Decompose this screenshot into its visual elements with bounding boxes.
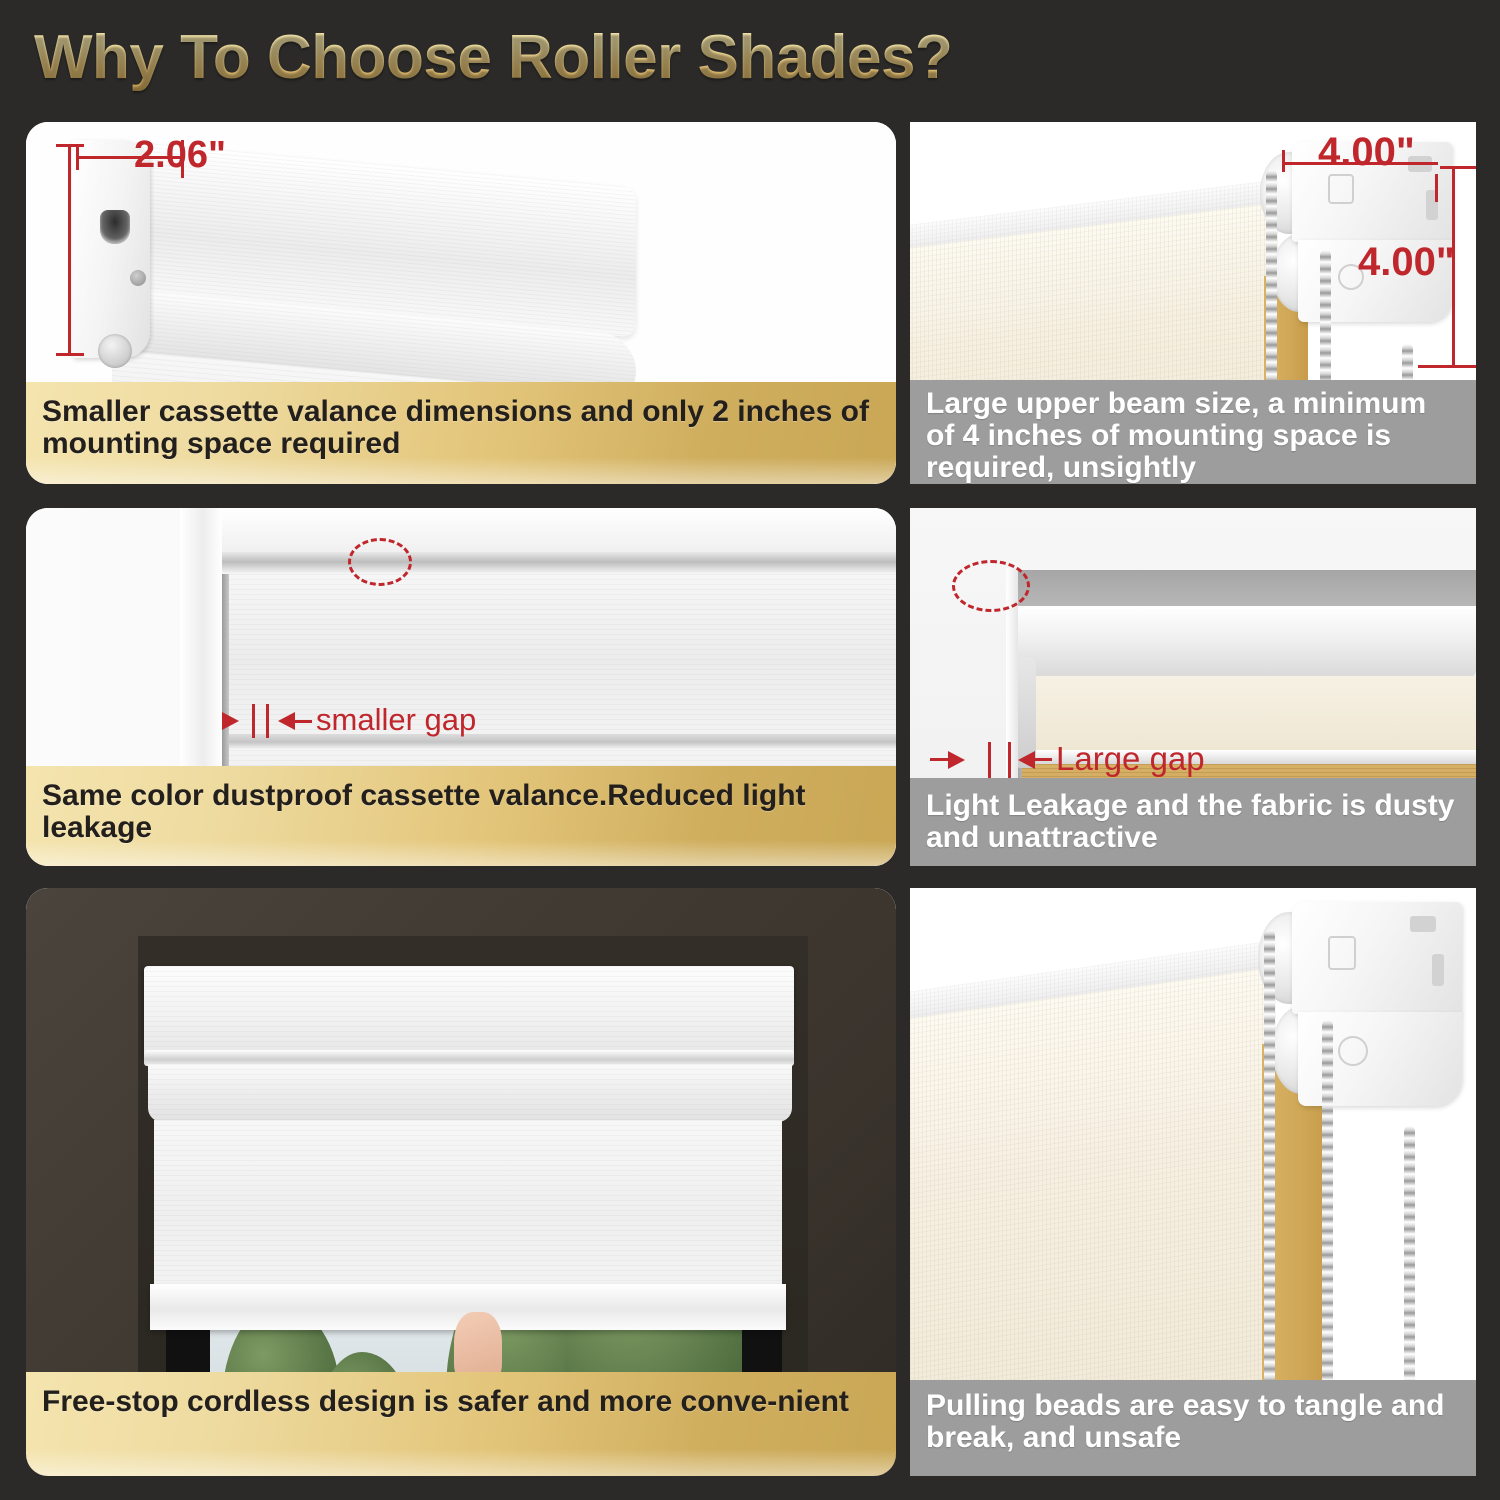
dim-top-tick-left <box>1282 150 1285 172</box>
roller-tube <box>148 1064 792 1122</box>
gap-tick-right <box>266 704 269 738</box>
caption-bottom-left: Free-stop cordless design is safer and m… <box>26 1372 896 1476</box>
window-frame-top <box>180 508 896 552</box>
caption-text: Free-stop cordless design is safer and m… <box>42 1386 849 1418</box>
gap-arrow-left <box>948 751 965 769</box>
highlight-circle <box>348 538 412 586</box>
bracket-notch-2 <box>1432 954 1444 986</box>
page-title: Why To Choose Roller Shades? <box>34 22 952 93</box>
panel-middle-left: smaller gap Same color dustproof cassett… <box>26 508 896 866</box>
caption-top-right: Large upper beam size, a minimum of 4 in… <box>910 380 1476 484</box>
dim-side-label: 4.00" <box>1358 240 1455 285</box>
header: Why To Choose Roller Shades? <box>0 0 1500 112</box>
dim-height-tick-bottom <box>56 353 84 356</box>
shade-fabric <box>154 1120 782 1310</box>
gap-arrow-right <box>1018 751 1035 769</box>
panel-top-left: 2.06" 5.49" Smaller cassette valance dim… <box>26 122 896 484</box>
dim-height-line <box>68 144 71 356</box>
dim-top-label: 4.00" <box>1318 130 1415 175</box>
gap-tick-right <box>1008 742 1011 778</box>
gap-arrow-right <box>278 712 295 730</box>
gap-arrow-left <box>222 712 239 730</box>
caption-text: Smaller cassette valance dimensions and … <box>42 396 880 460</box>
caption-middle-right: Light Leakage and the fabric is dusty an… <box>910 778 1476 866</box>
dim-width-label: 2.06" <box>134 134 226 177</box>
bracket-screw-upper <box>130 270 146 286</box>
panel-bottom-right: Pulling beads are easy to tangle and bre… <box>910 888 1476 1476</box>
highlight-circle <box>952 560 1030 612</box>
caption-top-left: Smaller cassette valance dimensions and … <box>26 382 896 484</box>
bead-chain-mid <box>1322 1020 1333 1436</box>
gap-arrow-left-shaft <box>930 758 950 761</box>
caption-text: Light Leakage and the fabric is dusty an… <box>926 790 1460 854</box>
bracket-glyph-1 <box>1328 174 1354 204</box>
caption-text: Large upper beam size, a minimum of 4 in… <box>926 388 1460 483</box>
dim-height-tick-top <box>56 144 84 147</box>
shade-fabric-cream <box>1016 676 1476 750</box>
caption-text: Same color dustproof cassette valance.Re… <box>42 780 880 844</box>
panel-top-right: 4.00" 4.00" Large upper beam size, a min… <box>910 122 1476 484</box>
cassette-valance <box>144 966 794 1054</box>
gap-label: Large gap <box>1056 740 1205 778</box>
bracket-notch-1 <box>1410 916 1436 932</box>
bracket-glyph-1 <box>1328 936 1356 970</box>
dim-top-tick-right <box>1435 174 1438 202</box>
roller-tube <box>1016 606 1476 678</box>
bracket-slot <box>100 210 130 244</box>
panel-middle-right: Large gap Light Leakage and the fabric i… <box>910 508 1476 866</box>
bracket-glyph-2 <box>1338 1036 1368 1066</box>
dim-side-tick-bottom <box>1418 365 1476 368</box>
gap-tick-left <box>252 704 255 738</box>
bead-chain-front <box>1264 930 1275 1436</box>
gap-tick-left <box>988 742 991 778</box>
bracket-screw-lower <box>98 334 132 368</box>
gap-label: smaller gap <box>316 702 476 738</box>
dim-side-tick-top <box>1440 166 1476 169</box>
caption-middle-left: Same color dustproof cassette valance.Re… <box>26 766 896 866</box>
caption-text: Pulling beads are easy to tangle and bre… <box>926 1390 1460 1454</box>
wall-shadow <box>1016 570 1476 610</box>
panel-bottom-left: Free-stop cordless design is safer and m… <box>26 888 896 1476</box>
caption-bottom-right: Pulling beads are easy to tangle and bre… <box>910 1380 1476 1476</box>
gap-arrow-right-shaft <box>1034 758 1052 761</box>
cassette-headrail <box>222 552 896 574</box>
gap-arrow-right-shaft <box>294 720 312 723</box>
